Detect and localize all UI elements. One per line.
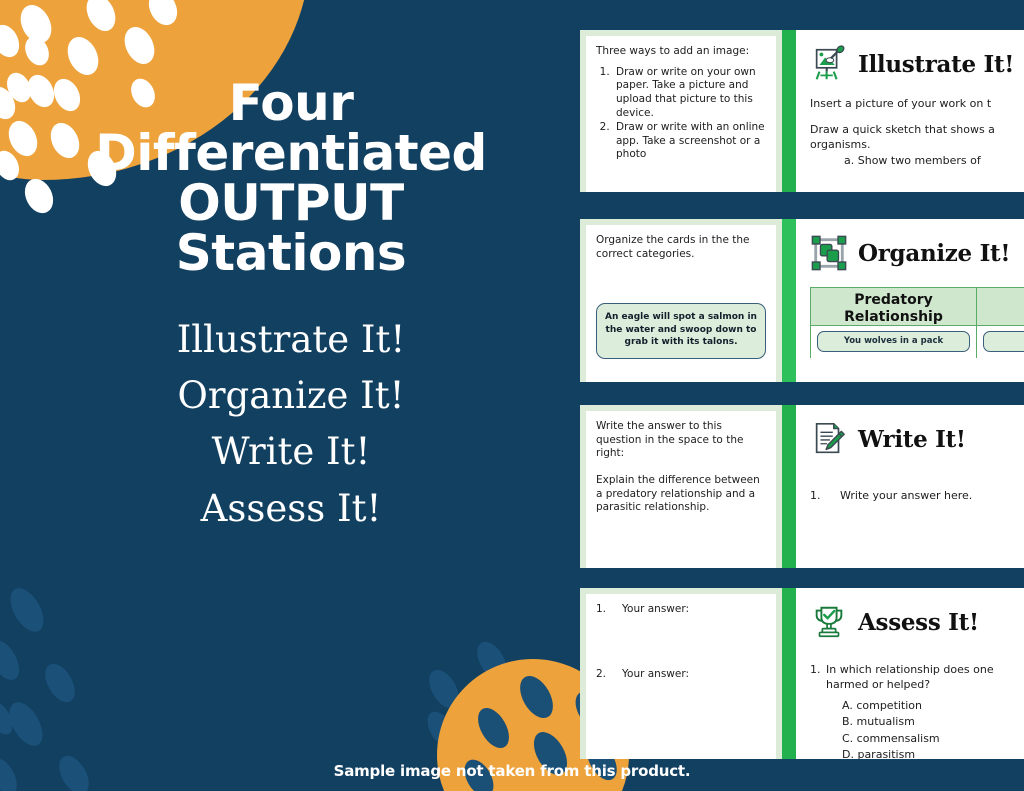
column-header: Cor [977, 288, 1024, 326]
faint-dot [0, 697, 18, 738]
faint-dot [422, 707, 460, 751]
list-item: 2. Your answer: [596, 668, 766, 680]
slide-preview-assess[interactable]: 1. Your answer: 2. Your answer: [580, 588, 1024, 759]
card-header: Organize It! [810, 229, 1024, 277]
option-c[interactable]: C. commensalism [842, 731, 1024, 746]
body-paragraph: Insert a picture of your work on t [810, 96, 1024, 112]
white-dot [23, 70, 59, 111]
assess-question: 1. In which relationship does one harmed… [810, 662, 1024, 759]
body-sub-item: a. Show two members of [810, 153, 1024, 169]
organize-shapes-icon [810, 234, 848, 272]
slide-right-panel: Write It! 1. Write your answer here. [782, 405, 1024, 568]
write-question-text: Explain the difference between a predato… [596, 474, 766, 515]
faint-dot [39, 659, 81, 707]
trophy-check-icon [810, 603, 848, 641]
white-dot [15, 0, 58, 48]
slide-previews: Three ways to add an image: Draw or writ… [580, 0, 1024, 791]
body-paragraph: Draw a quick sketch that shows a [810, 122, 1024, 138]
slide-preview-illustrate[interactable]: Three ways to add an image: Draw or writ… [580, 30, 1024, 192]
item-label[interactable]: Your answer: [622, 603, 689, 615]
white-dot [0, 20, 24, 61]
item-number: 1. [596, 603, 622, 615]
slide-left-panel: Write the answer to this question in the… [580, 405, 782, 568]
sort-card[interactable]: Tw [983, 331, 1024, 352]
body-paragraph: organisms. [810, 137, 1024, 153]
sample-image-disclaimer: Sample image not taken from this product… [0, 762, 1024, 780]
sort-card-eagle[interactable]: An eagle will spot a salmon in the water… [596, 303, 766, 358]
faint-dot [4, 583, 51, 638]
white-dot [0, 147, 24, 185]
title-line-4: Stations [60, 228, 522, 278]
card-header: Write It! [810, 415, 1024, 463]
card-title: Write It! [858, 426, 966, 453]
orange-blob-dot [513, 670, 559, 723]
title-line-3: OUTPUT [60, 178, 522, 228]
list-item: 1. Your answer: [596, 603, 766, 615]
table-cell: Tw [977, 326, 1024, 358]
option-d[interactable]: D. parasitism [842, 747, 1024, 759]
card-title: Assess It! [858, 609, 979, 636]
slide-right-panel: Illustrate It! Insert a picture of your … [782, 30, 1024, 192]
answer-blank-list: 1. Your answer: 2. Your answer: [596, 603, 766, 680]
white-dot [2, 69, 35, 107]
white-dot [62, 32, 105, 80]
item-number: 1. [810, 489, 840, 502]
poster-canvas: Four Differentiated OUTPUT Stations Illu… [0, 0, 1024, 791]
title-line-1: Four [60, 78, 522, 128]
illustrate-steps-list: Draw or write on your own paper. Take a … [596, 66, 766, 162]
slide-left-panel: Three ways to add an image: Draw or writ… [580, 30, 782, 192]
slide-left-panel: 1. Your answer: 2. Your answer: [580, 588, 782, 759]
item-number: 2. [596, 668, 622, 680]
station-item-write: Write It! [60, 424, 522, 480]
card-title: Illustrate It! [858, 51, 1014, 78]
slide-preview-organize[interactable]: Organize the cards in the the correct ca… [580, 219, 1024, 382]
card-header: Assess It! [810, 598, 1024, 646]
easel-paintbrush-icon [810, 45, 848, 83]
slide-right-panel: Assess It! 1. In which relationship does… [782, 588, 1024, 759]
table-column: Cor Tw [977, 288, 1024, 358]
faint-dot [423, 665, 465, 713]
slide-preview-write[interactable]: Write the answer to this question in the… [580, 405, 1024, 568]
illustrate-intro-text: Three ways to add an image: [596, 45, 766, 59]
page-title: Four Differentiated OUTPUT Stations [60, 78, 522, 278]
write-answer-row: 1. Write your answer here. [810, 489, 1024, 502]
slide-left-panel: Organize the cards in the the correct ca… [580, 219, 782, 382]
illustrate-body: Insert a picture of your work on t Draw … [810, 96, 1024, 168]
white-dot [119, 22, 160, 69]
question-text-line-1: In which relationship does one [826, 662, 994, 677]
item-label[interactable]: Your answer: [622, 668, 689, 680]
faint-dot [471, 637, 513, 685]
station-item-assess: Assess It! [60, 481, 522, 537]
white-dot [0, 82, 20, 123]
faint-dot [0, 635, 25, 685]
organize-intro-text: Organize the cards in the the correct ca… [596, 234, 766, 261]
table-cell: You wolves in a pack [811, 326, 976, 358]
white-dot [81, 0, 121, 36]
card-header: Illustrate It! [810, 40, 1024, 88]
category-table: Predatory Relationship You wolves in a p… [810, 287, 1024, 358]
table-column: Predatory Relationship You wolves in a p… [811, 288, 977, 358]
station-item-organize: Organize It! [60, 368, 522, 424]
title-line-2: Differentiated [60, 128, 522, 178]
slide-right-panel: Organize It! Predatory Relationship You … [782, 219, 1024, 382]
white-dot [143, 0, 182, 30]
answer-options: A. competition B. mutualism C. commensal… [810, 698, 1024, 759]
station-list: Illustrate It! Organize It! Write It! As… [60, 312, 522, 537]
faint-dot [3, 697, 50, 752]
white-dot [21, 33, 54, 70]
column-header: Predatory Relationship [811, 288, 976, 326]
white-dot [3, 116, 43, 161]
option-b[interactable]: B. mutualism [842, 714, 1024, 729]
item-text[interactable]: Write your answer here. [840, 489, 972, 502]
list-item: Draw or write with an online app. Take a… [613, 121, 766, 162]
faint-dot [480, 697, 518, 741]
white-dot [19, 174, 58, 218]
list-item: Draw or write on your own paper. Take a … [613, 66, 766, 121]
orange-blob-dot [472, 703, 516, 754]
station-item-illustrate: Illustrate It! [60, 312, 522, 368]
document-pencil-icon [810, 420, 848, 458]
question-row: 1. In which relationship does one [810, 662, 1024, 677]
option-a[interactable]: A. competition [842, 698, 1024, 713]
question-text-line-2: harmed or helped? [810, 677, 1024, 692]
write-intro-text: Write the answer to this question in the… [596, 420, 766, 461]
left-text-column: Four Differentiated OUTPUT Stations Illu… [60, 78, 522, 537]
question-number: 1. [810, 662, 826, 677]
sort-card[interactable]: You wolves in a pack [817, 331, 970, 352]
card-title: Organize It! [858, 240, 1010, 267]
